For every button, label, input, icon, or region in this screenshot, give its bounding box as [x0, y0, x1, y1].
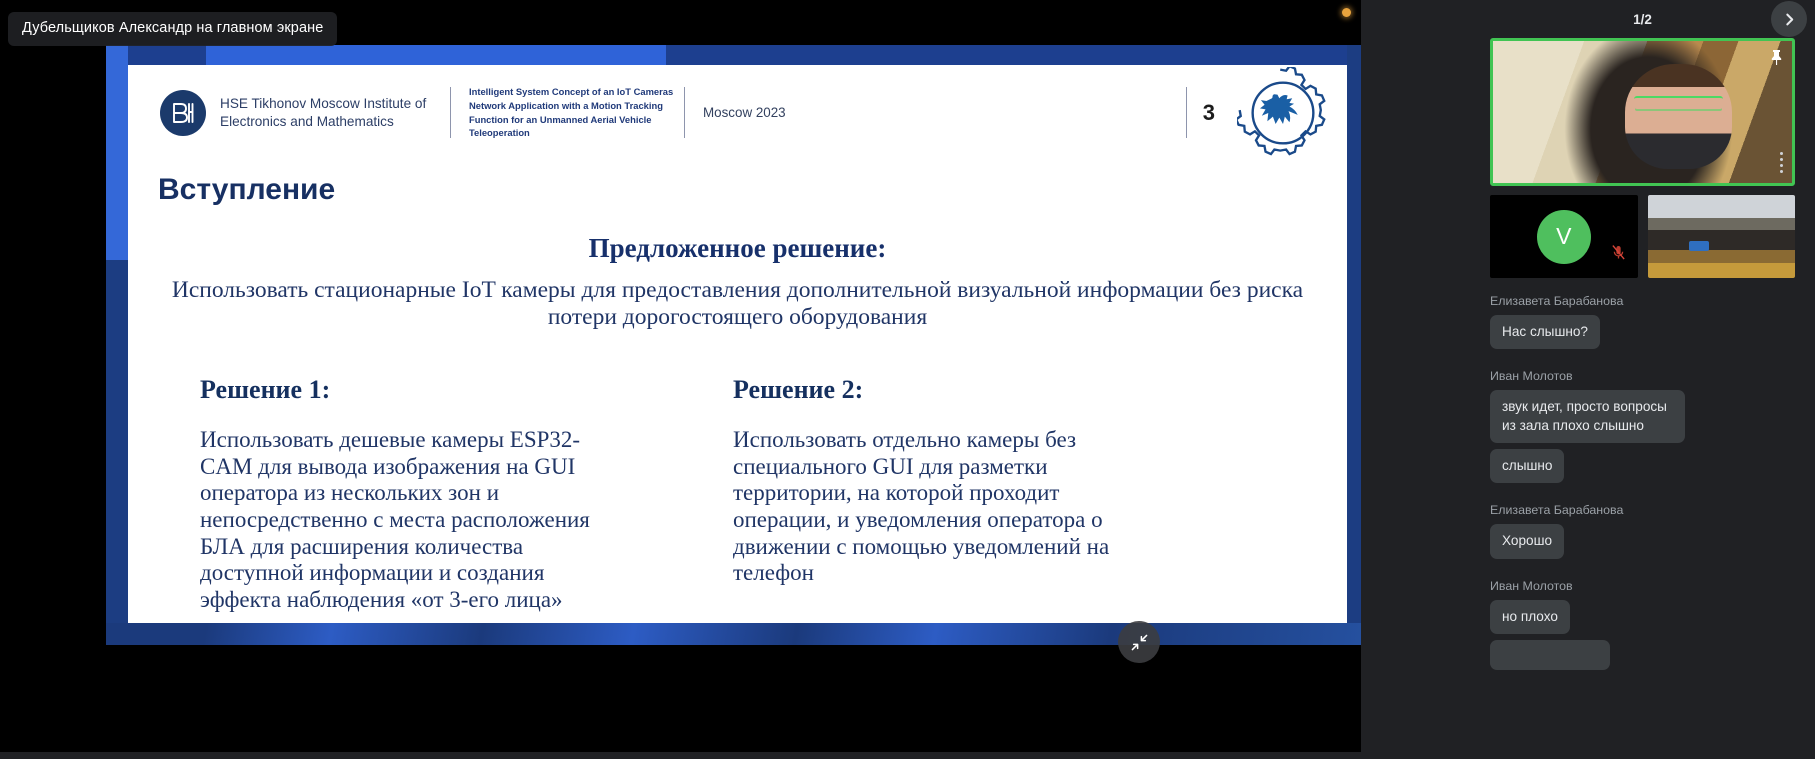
exit-fullscreen-button[interactable] — [1118, 621, 1160, 663]
slide-decor-top — [106, 45, 1361, 65]
hse-logo-icon — [160, 90, 206, 136]
solution-column-2: Решение 2: Использовать отдельно камеры … — [733, 375, 1133, 587]
header-divider-1 — [450, 87, 451, 138]
solution-1-heading: Решение 1: — [200, 375, 630, 405]
slide-title: Вступление — [158, 173, 335, 207]
tile-more-options-icon[interactable] — [1780, 152, 1783, 173]
chat-message-bubble[interactable]: Хорошо — [1490, 524, 1564, 558]
slide-page-number: 3 — [1203, 100, 1215, 126]
chevron-right-icon — [1783, 13, 1796, 26]
mic-off-icon — [1611, 244, 1626, 266]
presenter-name-badge: Дубельщиков Александр на главном экране — [8, 12, 337, 46]
active-speaker-tile[interactable] — [1490, 38, 1795, 186]
chat-author: Иван Молотов — [1490, 579, 1795, 593]
chat-group: Елизавета БарабановаХорошо — [1490, 503, 1795, 564]
solution-column-1: Решение 1: Использовать дешевые камеры E… — [200, 375, 630, 614]
room-video — [1648, 195, 1796, 278]
slide-decor-bottom — [106, 623, 1361, 645]
video-tiles: V — [1470, 38, 1815, 278]
participants-sidebar: 1/2 — [1470, 0, 1815, 759]
slide-decor-left-lower — [106, 260, 128, 645]
slide-lead-body: Использовать стационарные IoT камеры для… — [154, 277, 1321, 331]
solution-2-heading: Решение 2: — [733, 375, 1133, 405]
solution-1-body: Использовать дешевые камеры ESP32-CAM дл… — [200, 427, 630, 614]
chat-messages-list[interactable]: Елизавета БарабановаНас слышно?Иван Моло… — [1470, 278, 1815, 681]
thumbnail-row: V — [1490, 195, 1795, 278]
chat-author: Елизавета Барабанова — [1490, 503, 1795, 517]
shared-screen-surface[interactable]: HSE Tikhonov Moscow Institute of Electro… — [0, 0, 1361, 752]
chat-group: Елизавета БарабановаНас слышно? — [1490, 294, 1795, 355]
presentation-slide: HSE Tikhonov Moscow Institute of Electro… — [106, 45, 1361, 645]
solution-2-body: Использовать отдельно камеры без специал… — [733, 427, 1133, 587]
chat-group: Иван Молотовно плохо — [1490, 579, 1795, 681]
chat-message-bubble[interactable]: слышно — [1490, 449, 1564, 483]
shared-screen-stage[interactable]: HSE Tikhonov Moscow Institute of Electro… — [0, 0, 1470, 759]
room-video-highlight — [1689, 241, 1710, 251]
pager-label: 1/2 — [1633, 12, 1652, 27]
participants-pager: 1/2 — [1470, 0, 1815, 38]
chat-message-bubble[interactable]: звук идет, просто вопросы из зала плохо … — [1490, 390, 1685, 443]
meeting-window: HSE Tikhonov Moscow Institute of Electro… — [0, 0, 1815, 759]
pin-icon[interactable] — [1769, 49, 1784, 71]
miem-gear-logo-icon — [1237, 67, 1329, 159]
slide-header: HSE Tikhonov Moscow Institute of Electro… — [128, 65, 1347, 160]
slide-lead-heading: Предложенное решение: — [128, 233, 1347, 264]
webcam-glasses-highlight — [1634, 96, 1724, 109]
slide-city-year: Moscow 2023 — [703, 105, 786, 120]
participant-tile-avatar[interactable]: V — [1490, 195, 1638, 278]
chat-message-bubble[interactable] — [1490, 640, 1610, 670]
collapse-arrows-icon — [1131, 634, 1148, 651]
webcam-person — [1625, 64, 1733, 169]
slide-decor-left-upper — [106, 45, 128, 260]
chat-message-bubble[interactable]: но плохо — [1490, 600, 1570, 634]
chat-author: Иван Молотов — [1490, 369, 1795, 383]
recording-indicator-icon — [1342, 8, 1351, 17]
slide-content-area: HSE Tikhonov Moscow Institute of Electro… — [128, 65, 1347, 623]
slide-subject: Intelligent System Concept of an IoT Cam… — [469, 85, 684, 140]
slide-decor-right — [1347, 45, 1361, 645]
chat-message-bubble[interactable]: Нас слышно? — [1490, 315, 1600, 349]
chat-group: Иван Молотовзвук идет, просто вопросы из… — [1490, 369, 1795, 489]
participant-tile-room[interactable] — [1648, 195, 1796, 278]
pager-next-button[interactable] — [1771, 1, 1807, 37]
header-divider-3 — [1186, 87, 1187, 138]
avatar: V — [1537, 210, 1591, 264]
header-divider-2 — [684, 87, 685, 138]
chat-author: Елизавета Барабанова — [1490, 294, 1795, 308]
org-name: HSE Tikhonov Moscow Institute of Electro… — [220, 95, 450, 131]
